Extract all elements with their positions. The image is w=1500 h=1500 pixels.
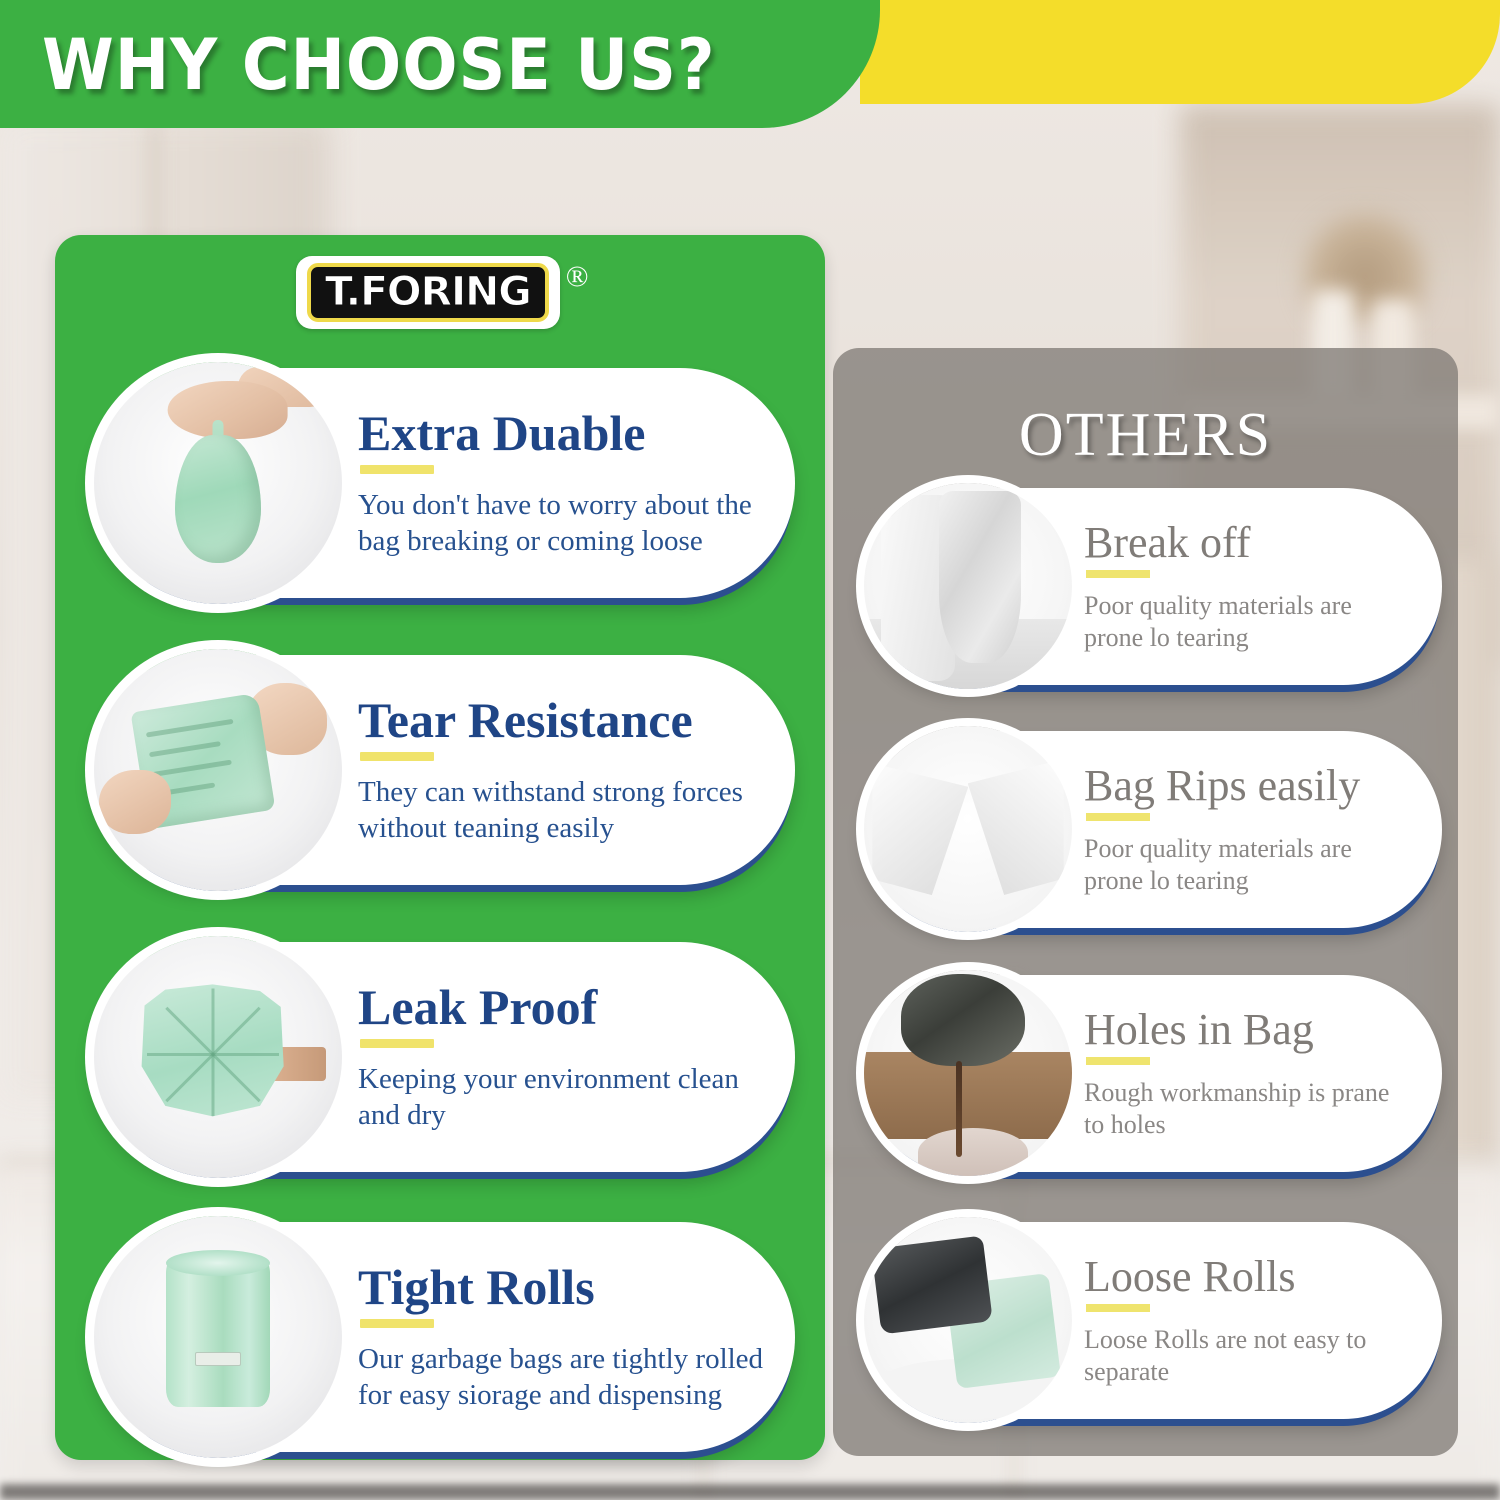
brand-name: T.FORING — [325, 272, 531, 312]
drawback-card-text: Break off Poor quality materials are pro… — [1084, 520, 1414, 654]
hand-holding-green-bag-photo — [94, 362, 342, 604]
drawback-card-break-off[interactable]: Break off Poor quality materials are pro… — [862, 488, 1442, 685]
feature-description: They can withstand strong forces without… — [358, 775, 778, 846]
feature-card-tear-resistance[interactable]: Tear Resistance They can withstand stron… — [90, 655, 795, 885]
feature-description: You don't have to worry about the bag br… — [358, 488, 778, 559]
brand-logo: T.FORING ® — [296, 256, 589, 329]
feature-card-tight-rolls[interactable]: Tight Rolls Our garbage bags are tightly… — [90, 1222, 795, 1452]
white-bag-ripped-photo — [864, 726, 1072, 932]
title-underline-accent — [1086, 570, 1150, 578]
drawback-card-bag-rips-easily[interactable]: Bag Rips easily Poor quality materials a… — [862, 731, 1442, 928]
title-underline-accent — [360, 752, 434, 761]
bottom-shadow-strip — [0, 1484, 1500, 1500]
drawback-description: Rough workmanship is prane to holes — [1084, 1077, 1414, 1140]
title-underline-accent — [1086, 813, 1150, 821]
feature-card-leak-proof[interactable]: Leak Proof Keeping your environment clea… — [90, 942, 795, 1172]
clear-bag-breaking-photo — [864, 483, 1072, 689]
feature-description: Keeping your environment clean and dry — [358, 1062, 778, 1133]
feature-title: Tear Resistance — [358, 694, 778, 747]
feature-title: Tight Rolls — [358, 1261, 778, 1314]
drawback-description: Loose Rolls are not easy to separate — [1084, 1324, 1414, 1387]
feature-card-extra-duable[interactable]: Extra Duable You don't have to worry abo… — [90, 368, 795, 598]
hands-stretching-green-bag-photo — [94, 649, 342, 891]
feature-card-text: Extra Duable You don't have to worry abo… — [358, 407, 778, 559]
feature-card-text: Tight Rolls Our garbage bags are tightly… — [358, 1261, 778, 1413]
drawback-description: Poor quality materials are prone lo tear… — [1084, 590, 1414, 653]
bag-leaking-liquid-photo — [864, 970, 1072, 1176]
drawback-title: Break off — [1084, 520, 1414, 566]
others-column-title: OTHERS — [833, 400, 1458, 471]
page-title: WHY CHOOSE US? — [42, 24, 716, 106]
title-underline-accent — [360, 465, 434, 474]
drawback-description: Poor quality materials are prone lo tear… — [1084, 833, 1414, 896]
title-underline-accent — [360, 1039, 434, 1048]
title-underline-accent — [1086, 1057, 1150, 1065]
drawback-card-text: Bag Rips easily Poor quality materials a… — [1084, 763, 1414, 897]
feature-card-text: Leak Proof Keeping your environment clea… — [358, 981, 778, 1133]
loose-bag-rolls-photo — [864, 1217, 1072, 1423]
drawback-card-loose-rolls[interactable]: Loose Rolls Loose Rolls are not easy to … — [862, 1222, 1442, 1419]
brand-badge-inner: T.FORING — [307, 263, 549, 322]
registered-trademark-icon: ® — [566, 260, 589, 294]
header-banner-yellow — [860, 0, 1500, 104]
feature-card-text: Tear Resistance They can withstand stron… — [358, 694, 778, 846]
brand-badge: T.FORING — [296, 256, 560, 329]
feature-title: Leak Proof — [358, 981, 778, 1034]
drawback-title: Loose Rolls — [1084, 1254, 1414, 1300]
green-bag-top-view-photo — [94, 936, 342, 1178]
drawback-title: Holes in Bag — [1084, 1007, 1414, 1053]
title-underline-accent — [1086, 1304, 1150, 1312]
drawback-card-text: Loose Rolls Loose Rolls are not easy to … — [1084, 1254, 1414, 1388]
feature-description: Our garbage bags are tightly rolled for … — [358, 1342, 778, 1413]
drawback-title: Bag Rips easily — [1084, 763, 1414, 809]
feature-title: Extra Duable — [358, 407, 778, 460]
drawback-card-text: Holes in Bag Rough workmanship is prane … — [1084, 1007, 1414, 1141]
green-bag-roll-photo — [94, 1216, 342, 1458]
title-underline-accent — [360, 1319, 434, 1328]
drawback-card-holes-in-bag[interactable]: Holes in Bag Rough workmanship is prane … — [862, 975, 1442, 1172]
